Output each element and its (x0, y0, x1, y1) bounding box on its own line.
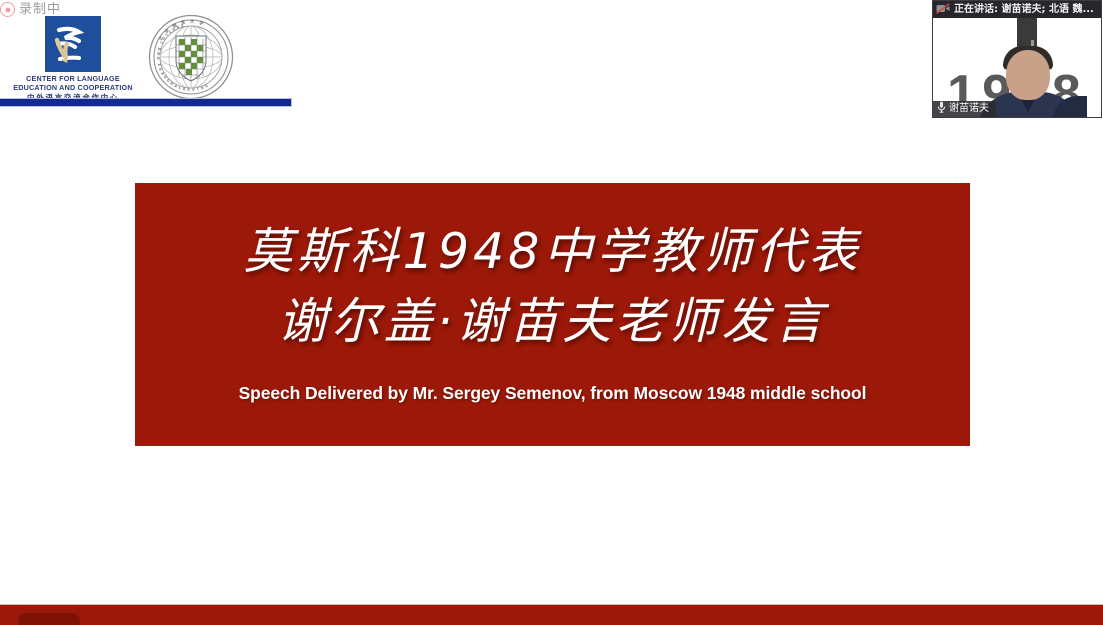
video-thumbnail-header: 正在讲话: 谢苗诺夫; 北语 魏... (933, 1, 1101, 18)
svg-text:N: N (156, 52, 160, 55)
slide-title-cn-line2: 谢尔盖·谢苗夫老师发言 (278, 287, 828, 357)
person-head (1006, 50, 1050, 100)
blcu-university-seal-icon: 北 京 语 言 大 学 L A N G U A G E A N (148, 14, 234, 100)
header-divider-bar (0, 98, 292, 107)
next-slide-shape (18, 613, 80, 625)
slide-subtitle-en: Speech Delivered by Mr. Sergey Semenov, … (239, 383, 867, 404)
recording-indicator: 录制中 (0, 2, 61, 17)
slide-title-cn-line1: 莫斯科1948中学教师代表 (244, 217, 862, 287)
clec-logo-text-en-2: EDUCATION AND COOPERATION (12, 84, 134, 93)
participant-name: 谢苗诺夫 (949, 101, 989, 117)
video-off-icon (936, 1, 950, 19)
recording-label: 录制中 (19, 3, 61, 16)
slide-title-block: 莫斯科1948中学教师代表 谢尔盖·谢苗夫老师发言 Speech Deliver… (135, 183, 970, 446)
microphone-icon (937, 100, 946, 117)
video-feed: 1948 谢苗诺夫 (933, 18, 1101, 117)
clec-logo: CENTER FOR LANGUAGE EDUCATION AND COOPER… (12, 16, 134, 103)
svg-text:A: A (156, 57, 160, 60)
record-dot-icon (0, 2, 15, 17)
participant-video-thumbnail[interactable]: 正在讲话: 谢苗诺夫; 北语 魏... 1948 谢苗诺夫 (932, 0, 1102, 118)
participant-name-badge: 谢苗诺夫 (933, 101, 996, 117)
active-speaker-label: 正在讲话: 谢苗诺夫; 北语 魏... (954, 1, 1094, 18)
next-slide-preview-band (0, 604, 1103, 625)
clec-logo-mark-icon (45, 16, 101, 72)
